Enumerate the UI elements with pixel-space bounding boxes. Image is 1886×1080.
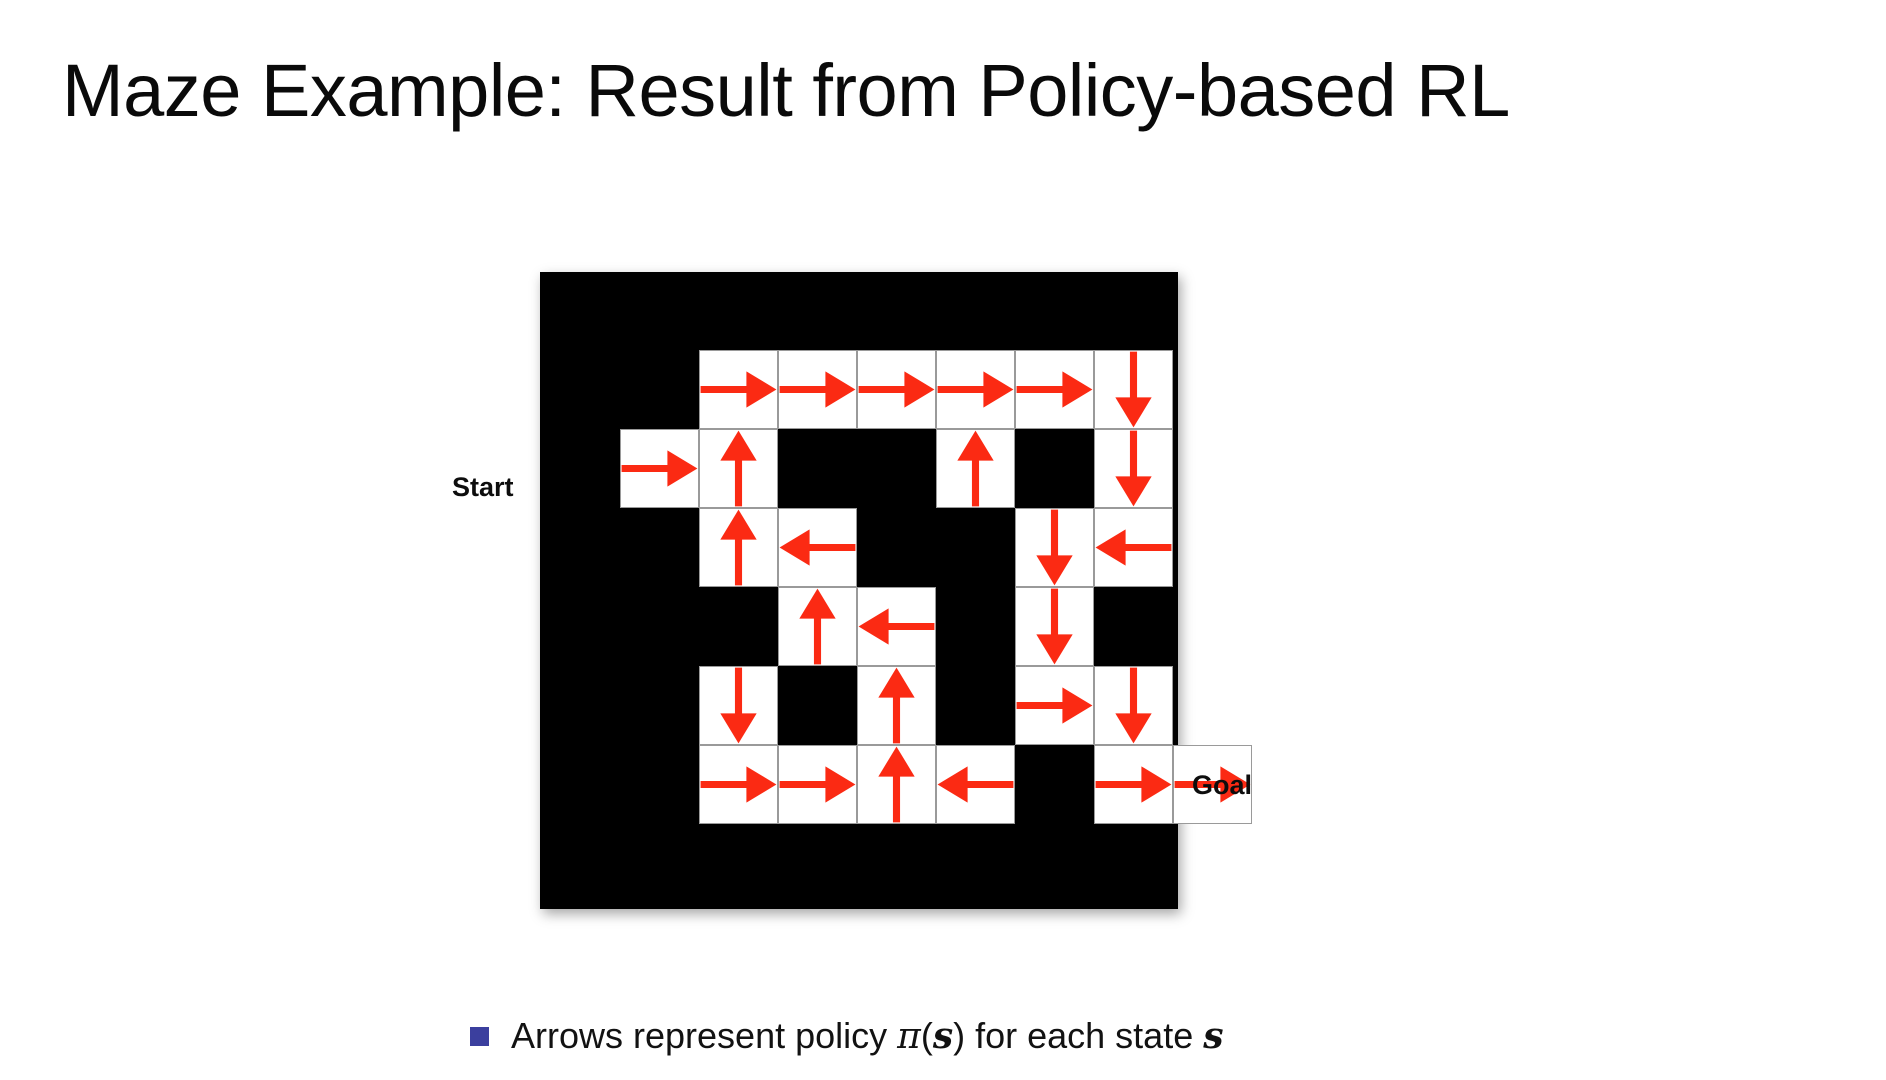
state-variable: s [933,1015,953,1057]
goal-label: Goal [1192,770,1252,801]
maze-cell [778,350,857,429]
slide-canvas: Maze Example: Result from Policy-based R… [0,0,1886,1080]
paren-close: ) [953,1015,965,1056]
maze-board [540,272,1178,909]
maze-cell [778,745,857,824]
maze-cell [778,508,857,587]
maze-cell [1094,350,1173,429]
maze-cell [699,508,778,587]
maze-cell [936,350,1015,429]
legend-caption-text: Arrows represent policy π(s) for each st… [511,1015,1224,1057]
maze-cell [1015,508,1094,587]
bullet-square-icon [470,1027,489,1046]
maze-cell [699,350,778,429]
maze-cell [936,429,1015,508]
maze-cell [1015,350,1094,429]
state-variable-2: s [1203,1015,1223,1057]
legend-caption: Arrows represent policy π(s) for each st… [470,1015,1224,1057]
maze-cell [1015,666,1094,745]
maze-cell [936,745,1015,824]
page-title: Maze Example: Result from Policy-based R… [62,52,1510,130]
maze-cell [620,429,699,508]
maze-cell [1094,429,1173,508]
maze-cell [1094,745,1173,824]
maze-cell [778,587,857,666]
maze-cell [699,666,778,745]
maze-cell [857,350,936,429]
maze-cell [1094,666,1173,745]
maze-cell [699,745,778,824]
paren-open: ( [921,1015,933,1056]
pi-symbol: π [897,1016,921,1057]
maze-cell [699,429,778,508]
maze-cell [857,745,936,824]
start-label: Start [452,472,514,503]
maze-cell [857,666,936,745]
legend-text-middle: for each state [965,1015,1203,1056]
maze-figure [540,272,1178,909]
maze-cell [857,587,936,666]
maze-cell [1015,587,1094,666]
maze-cell [1094,508,1173,587]
legend-text-before: Arrows represent policy [511,1015,897,1056]
